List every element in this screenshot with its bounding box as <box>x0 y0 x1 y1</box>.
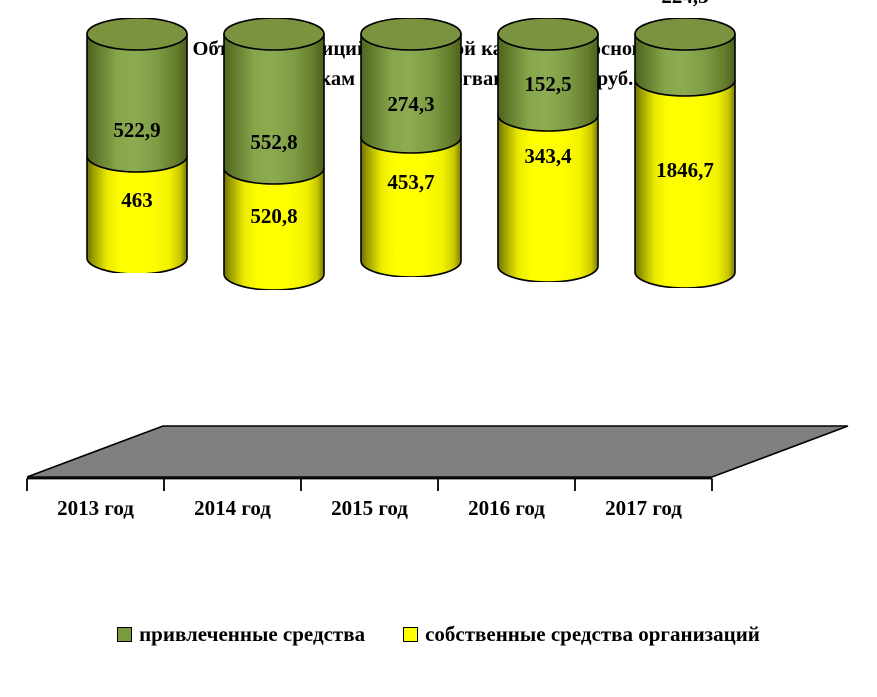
legend-swatch-own-icon <box>403 627 418 642</box>
category-label-2017: 2017 год <box>575 496 712 521</box>
bar-2014-segment-attracted <box>224 34 324 184</box>
category-label-2014: 2014 год <box>164 496 301 521</box>
bar-2013-top-cap <box>87 18 187 50</box>
bar-2017-top-cap <box>635 18 735 50</box>
category-label-2016: 2016 год <box>438 496 575 521</box>
bar-2016-cylinder <box>494 18 602 282</box>
bar-2013-segment-own <box>87 156 187 273</box>
bar-2015-segment-attracted <box>361 34 461 153</box>
legend-item-own[interactable]: собственные средства организаций <box>403 622 760 647</box>
bar-2016[interactable]: 152,5 343,4 <box>494 18 602 282</box>
bar-2016-top-cap <box>498 18 598 50</box>
bar-2015-segment-own <box>361 137 461 277</box>
bar-2013-segment-attracted <box>87 34 187 172</box>
bar-2017-label-attracted: 224,3 <box>631 0 739 9</box>
bar-2014-segment-own <box>224 168 324 290</box>
legend-item-attracted[interactable]: привлеченные средства <box>117 622 365 647</box>
category-labels: 2013 год 2014 год 2015 год 2016 год 2017… <box>0 496 877 530</box>
category-label-2015: 2015 год <box>301 496 438 521</box>
bar-2013[interactable]: 522,9 463 <box>83 18 191 273</box>
bar-2014-top-cap <box>224 18 324 50</box>
bar-2015[interactable]: 274,3 453,7 <box>357 18 465 277</box>
bar-2017[interactable]: 224,3 1846,7 <box>631 18 739 288</box>
bar-2014[interactable]: 552,8 520,8 <box>220 18 328 290</box>
chart-legend: привлеченные средства собственные средст… <box>0 622 877 647</box>
bar-2015-cylinder <box>357 18 465 277</box>
chart-root: Объем инвестиций в основной капитал по о… <box>0 0 877 697</box>
bar-2017-cylinder <box>631 18 739 288</box>
bar-2013-cylinder <box>83 18 191 273</box>
bar-2014-cylinder <box>220 18 328 290</box>
legend-swatch-attracted-icon <box>117 627 132 642</box>
bar-2016-segment-own <box>498 115 598 282</box>
bar-2015-top-cap <box>361 18 461 50</box>
legend-label-own: собственные средства организаций <box>425 622 760 647</box>
category-label-2013: 2013 год <box>27 496 164 521</box>
bars-layer: 522,9 463 552,8 520,8 274,3 453,7 <box>0 0 877 500</box>
bar-2017-segment-own <box>635 80 735 288</box>
legend-label-attracted: привлеченные средства <box>139 622 365 647</box>
